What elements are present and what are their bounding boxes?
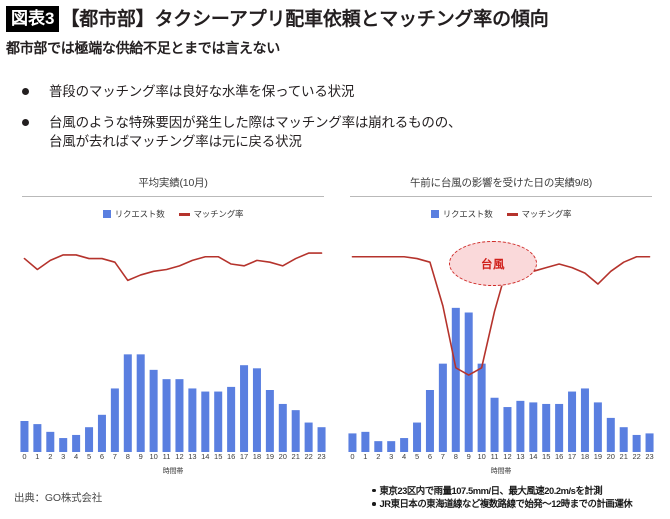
bar — [646, 433, 654, 452]
bullet-list: 普段のマッチング率は良好な水準を保っている状況 台風のような特殊要因が発生した際… — [22, 82, 660, 163]
x-tick-label: 23 — [317, 452, 325, 461]
bar — [594, 402, 602, 452]
bar — [400, 438, 408, 452]
bar — [581, 388, 589, 452]
x-tick-label: 3 — [61, 452, 65, 461]
x-tick-label: 4 — [74, 452, 78, 461]
x-tick-label: 13 — [516, 452, 524, 461]
chart-title-left: 平均実績(10月) — [8, 176, 338, 190]
bar — [555, 404, 563, 452]
x-tick-label: 9 — [467, 452, 471, 461]
x-tick-label: 23 — [645, 452, 653, 461]
bullet-dot-icon — [22, 88, 29, 95]
footnote-item: 東京23区内で雨量107.5mm/日、最大風速20.2m/sを計測 — [372, 484, 666, 498]
legend-line-swatch-icon — [507, 213, 518, 216]
x-tick-label: 4 — [402, 452, 406, 461]
figure-number-badge: 図表3 — [6, 6, 59, 32]
bar — [452, 308, 460, 452]
legend-label-requests: リクエスト数 — [115, 208, 165, 220]
footnote-text: 東京23区内で雨量107.5mm/日、最大風速20.2m/sを計測 — [380, 484, 603, 498]
x-axis-left: 01234567891011121314151617181920212223 — [18, 452, 328, 465]
plot-area-right: 台風 — [346, 230, 656, 452]
bar — [85, 427, 93, 452]
divider — [350, 196, 652, 197]
bar — [46, 432, 54, 452]
x-tick-label: 7 — [113, 452, 117, 461]
bar — [240, 365, 248, 452]
bullet-dot-icon — [22, 119, 29, 126]
bullet-text: 普段のマッチング率は良好な水準を保っている状況 — [49, 82, 354, 102]
x-tick-label: 20 — [279, 452, 287, 461]
bar — [124, 354, 132, 452]
typhoon-callout: 台風 — [449, 241, 537, 286]
bullet-dot-icon — [372, 502, 376, 506]
x-tick-label: 7 — [441, 452, 445, 461]
bar — [465, 313, 473, 453]
x-tick-label: 14 — [529, 452, 537, 461]
chart-legend-right: リクエスト数 マッチング率 — [336, 208, 666, 220]
footnote-item: JR東日本の東海道線など複数路線で始発〜12時までの計画運休 — [372, 497, 666, 511]
x-tick-label: 10 — [477, 452, 485, 461]
bar — [348, 433, 356, 452]
divider — [22, 196, 324, 197]
bar — [20, 421, 28, 452]
legend-label-requests: リクエスト数 — [443, 208, 493, 220]
x-tick-label: 8 — [126, 452, 130, 461]
x-tick-label: 21 — [620, 452, 628, 461]
x-tick-label: 18 — [253, 452, 261, 461]
bar — [439, 364, 447, 452]
figure-page: 図表3 【都市部】タクシーアプリ配車依頼とマッチング率の傾向 都市部では極端な供… — [0, 0, 670, 519]
bar — [568, 392, 576, 452]
chart-panel-average: 平均実績(10月) リクエスト数 マッチング率 0123456789101112… — [8, 176, 338, 486]
x-tick-label: 14 — [201, 452, 209, 461]
x-tick-label: 10 — [149, 452, 157, 461]
legend-label-matchrate: マッチング率 — [522, 208, 572, 220]
x-tick-label: 2 — [376, 452, 380, 461]
bar — [478, 364, 486, 452]
bar — [292, 410, 300, 452]
x-tick-label: 1 — [35, 452, 39, 461]
chart-legend-left: リクエスト数 マッチング率 — [8, 208, 338, 220]
chart-svg-left — [18, 230, 328, 452]
bar — [516, 401, 524, 452]
bar — [111, 388, 119, 452]
x-tick-label: 5 — [415, 452, 419, 461]
bar — [620, 427, 628, 452]
x-tick-label: 2 — [48, 452, 52, 461]
x-tick-label: 6 — [100, 452, 104, 461]
bar — [279, 404, 287, 452]
x-tick-label: 15 — [214, 452, 222, 461]
bar — [387, 441, 395, 452]
page-title: 図表3 【都市部】タクシーアプリ配車依頼とマッチング率の傾向 — [6, 6, 664, 32]
legend-line-swatch-icon — [179, 213, 190, 216]
x-axis-label-right: 時間帯 — [336, 466, 666, 476]
x-tick-label: 1 — [363, 452, 367, 461]
x-tick-label: 0 — [350, 452, 354, 461]
bar — [607, 418, 615, 452]
bar — [318, 427, 326, 452]
plot-area-left — [18, 230, 328, 452]
bar — [305, 423, 313, 452]
bullet-text: 台風のような特殊要因が発生した際はマッチング率は崩れるものの、 台風が去ればマッ… — [49, 113, 461, 152]
x-tick-label: 5 — [87, 452, 91, 461]
x-tick-label: 11 — [491, 452, 499, 461]
page-title-text: 【都市部】タクシーアプリ配車依頼とマッチング率の傾向 — [60, 10, 548, 29]
x-tick-label: 16 — [227, 452, 235, 461]
legend-label-matchrate: マッチング率 — [194, 208, 244, 220]
chart-panel-typhoon: 午前に台風の影響を受けた日の実績9/8) リクエスト数 マッチング率 台風 01… — [336, 176, 666, 486]
bar — [188, 388, 196, 452]
chart-title-right: 午前に台風の影響を受けた日の実績9/8) — [336, 176, 666, 190]
bar — [150, 370, 158, 452]
legend-item-matchrate: マッチング率 — [179, 208, 244, 220]
typhoon-callout-label: 台風 — [481, 256, 505, 272]
x-tick-label: 17 — [240, 452, 248, 461]
bar — [361, 432, 369, 452]
charts-area: 平均実績(10月) リクエスト数 マッチング率 0123456789101112… — [0, 176, 670, 486]
bar — [201, 392, 209, 452]
source-note: 出典：GO株式会社 — [14, 490, 102, 505]
x-tick-label: 19 — [594, 452, 602, 461]
bar — [413, 423, 421, 452]
x-tick-label: 0 — [22, 452, 26, 461]
bar — [59, 438, 67, 452]
x-tick-label: 18 — [581, 452, 589, 461]
bar — [491, 398, 499, 452]
bar — [137, 354, 145, 452]
x-tick-label: 6 — [428, 452, 432, 461]
legend-item-requests: リクエスト数 — [431, 208, 493, 220]
x-axis-label-left: 時間帯 — [8, 466, 338, 476]
list-item: 普段のマッチング率は良好な水準を保っている状況 — [22, 82, 660, 102]
x-tick-label: 3 — [389, 452, 393, 461]
match-rate-line — [24, 253, 321, 280]
bar — [374, 441, 382, 452]
bar — [72, 435, 80, 452]
x-tick-label: 9 — [139, 452, 143, 461]
x-tick-label: 20 — [607, 452, 615, 461]
bar — [214, 392, 222, 452]
bullet-dot-icon — [372, 489, 376, 493]
bar — [227, 387, 235, 452]
x-tick-label: 21 — [292, 452, 300, 461]
bar — [542, 404, 550, 452]
list-item: 台風のような特殊要因が発生した際はマッチング率は崩れるものの、 台風が去ればマッ… — [22, 113, 660, 152]
bar — [426, 390, 434, 452]
legend-item-matchrate: マッチング率 — [507, 208, 572, 220]
bar — [529, 402, 537, 452]
bar — [33, 424, 41, 452]
x-tick-label: 15 — [542, 452, 550, 461]
footnote-list: 東京23区内で雨量107.5mm/日、最大風速20.2m/sを計測 JR東日本の… — [372, 484, 666, 511]
x-tick-label: 22 — [304, 452, 312, 461]
legend-item-requests: リクエスト数 — [103, 208, 165, 220]
legend-bar-swatch-icon — [103, 210, 111, 218]
bar — [175, 379, 183, 452]
bar — [163, 379, 171, 452]
bar — [633, 435, 641, 452]
bar — [253, 368, 261, 452]
bar — [503, 407, 511, 452]
x-tick-label: 22 — [632, 452, 640, 461]
x-tick-label: 11 — [163, 452, 171, 461]
footnote-text: JR東日本の東海道線など複数路線で始発〜12時までの計画運休 — [380, 497, 633, 511]
x-tick-label: 16 — [555, 452, 563, 461]
x-tick-label: 12 — [503, 452, 511, 461]
page-subtitle: 都市部では極端な供給不足とまでは言えない — [6, 38, 280, 58]
x-tick-label: 19 — [266, 452, 274, 461]
bar — [266, 390, 274, 452]
x-tick-label: 12 — [175, 452, 183, 461]
x-tick-label: 8 — [454, 452, 458, 461]
x-tick-label: 13 — [188, 452, 196, 461]
bar — [98, 415, 106, 452]
legend-bar-swatch-icon — [431, 210, 439, 218]
x-tick-label: 17 — [568, 452, 576, 461]
x-axis-right: 01234567891011121314151617181920212223 — [346, 452, 656, 465]
